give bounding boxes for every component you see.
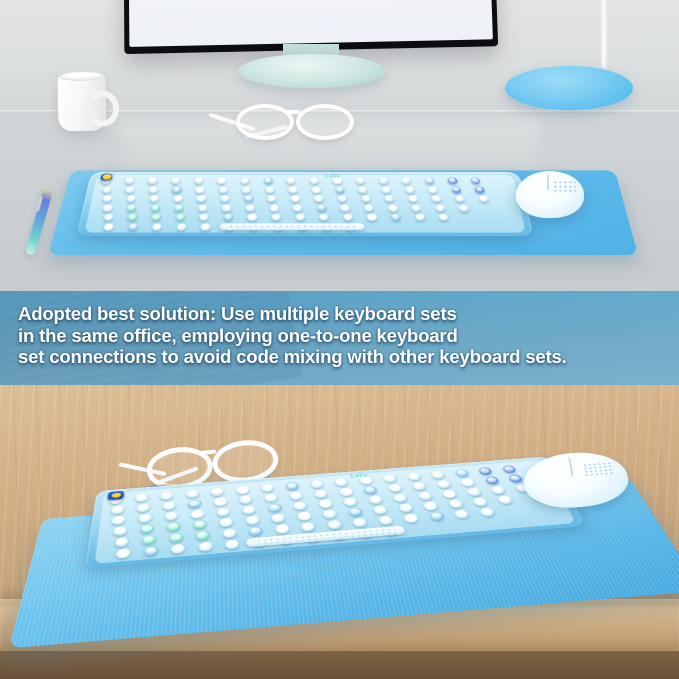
monitor-screen: 0.700 USD 0.609898 BTC Exchange ➜ [129, 0, 493, 47]
key-face [334, 178, 341, 182]
banner-headline-line-2: in the same office, employing one-to-one… [18, 325, 669, 347]
key-face [370, 497, 380, 503]
key-face [365, 205, 372, 209]
keyboard-key[interactable] [335, 186, 344, 193]
key-face [127, 187, 134, 191]
key-face [140, 515, 150, 521]
scene-top-grey-desk: 0.700 USD 0.609898 BTC Exchange ➜ [0, 0, 679, 292]
key-face [202, 224, 209, 229]
key-face [263, 485, 272, 490]
key-face [173, 545, 183, 551]
key-face [409, 196, 416, 200]
key-face [389, 205, 396, 209]
keyboard-key[interactable] [405, 186, 415, 193]
key-face [499, 497, 510, 503]
key-face [247, 517, 257, 523]
key-face [270, 505, 280, 511]
key-face [295, 503, 305, 509]
key-face [249, 215, 256, 220]
keyboard-key[interactable] [474, 186, 484, 193]
key-face [221, 519, 231, 525]
key-face [363, 196, 370, 200]
key-face [151, 196, 158, 200]
key-face [178, 224, 185, 229]
key-face [221, 196, 228, 200]
key-face [409, 474, 419, 479]
key-face [420, 493, 431, 499]
key-face [321, 215, 328, 220]
key-face [406, 515, 417, 521]
key-face [329, 521, 339, 527]
key-face [149, 178, 156, 182]
key-face [269, 196, 276, 200]
banner-headline-line-1: Adopted best solution: Use multiple keyb… [18, 303, 669, 325]
key-face [129, 224, 137, 229]
key-face [480, 468, 490, 473]
key-face [241, 497, 251, 503]
key-face [198, 532, 208, 538]
key-face [251, 528, 261, 534]
key-face [112, 507, 122, 513]
mouse-decal-top [554, 181, 576, 193]
key-face [395, 495, 405, 501]
key-face [200, 543, 210, 549]
key-face [383, 187, 390, 191]
key-face [342, 205, 349, 209]
key-face [169, 523, 179, 529]
key-face [469, 489, 480, 495]
key-face [429, 187, 436, 191]
keyboard-key[interactable] [314, 195, 323, 202]
key-face [345, 215, 352, 220]
keyboard-key[interactable] [269, 204, 278, 211]
mug-rim [59, 72, 103, 82]
key-face [139, 505, 149, 511]
key-face [225, 215, 232, 220]
key-face [414, 483, 424, 488]
key-face [197, 187, 204, 191]
key-face [316, 196, 323, 200]
key-face [313, 187, 320, 191]
key-face [242, 178, 249, 182]
product-image: 0.700 USD 0.609898 BTC Exchange ➜ [0, 0, 679, 679]
lamp-pole [601, 0, 608, 68]
key-face [195, 521, 205, 527]
eyeglasses-top [236, 100, 356, 134]
key-face [220, 187, 227, 191]
key-face [510, 475, 521, 480]
keyboard-key[interactable] [367, 214, 377, 222]
mouse-decal-bottom [583, 462, 615, 477]
key-face [176, 205, 183, 209]
key-face [105, 224, 113, 229]
key-face [336, 479, 346, 484]
key-face [380, 178, 387, 182]
floor-background [0, 651, 679, 679]
key-face [172, 178, 179, 182]
key-face [453, 187, 460, 191]
key-face [481, 509, 492, 515]
key-face [115, 528, 125, 534]
keyboard-key[interactable] [222, 204, 232, 211]
key-face [162, 493, 171, 499]
key-face [431, 513, 442, 519]
key-face [472, 178, 479, 182]
keyboard-key[interactable] [459, 204, 469, 211]
key-face [224, 530, 234, 536]
key-face [433, 196, 440, 200]
key-face [216, 499, 225, 505]
key-face [436, 205, 443, 209]
key-face [299, 513, 309, 519]
key-face [360, 187, 367, 191]
keyboard-key[interactable] [289, 186, 298, 193]
key-face [292, 196, 299, 200]
key-face [118, 550, 129, 557]
key-face [303, 523, 313, 529]
key-face [177, 215, 184, 220]
key-face [114, 517, 124, 523]
key-face [219, 509, 229, 515]
key-face [336, 187, 343, 191]
keyboard-key[interactable] [451, 186, 461, 193]
mouse-bottom[interactable] [521, 449, 634, 512]
key-face [291, 493, 301, 499]
key-face [245, 196, 252, 200]
key-face [126, 178, 133, 182]
keyboard-key[interactable] [388, 204, 398, 211]
key-face [201, 215, 208, 220]
keyboard-key[interactable] [364, 204, 374, 211]
key-face [390, 485, 400, 490]
key-face [357, 178, 364, 182]
key-face [386, 196, 393, 200]
key-face [238, 487, 247, 492]
key-face [444, 491, 455, 497]
key-face [380, 517, 391, 523]
key-face [103, 187, 110, 191]
keyboard-key[interactable] [431, 195, 441, 202]
keyboard-key[interactable] [265, 186, 274, 193]
key-face [129, 215, 137, 220]
key-face [392, 215, 399, 220]
key-face [312, 481, 322, 486]
key-face [104, 205, 112, 209]
lamp-base [505, 66, 633, 110]
glasses-bridge [286, 110, 300, 114]
key-face [243, 187, 250, 191]
key-face [265, 178, 272, 182]
key-face [462, 479, 473, 484]
key-face [195, 178, 202, 182]
keyboard-key[interactable] [340, 204, 350, 211]
key-face [188, 491, 197, 497]
key-face [297, 215, 304, 220]
key-face [146, 548, 156, 555]
key-face [316, 491, 326, 497]
key-face [475, 499, 486, 505]
keyboard-key[interactable] [295, 214, 304, 222]
key-face [413, 205, 420, 209]
key-face [294, 205, 301, 209]
mouse-seam-bottom [568, 457, 573, 476]
keyboard-key[interactable] [317, 204, 326, 211]
coffee-mug [58, 75, 107, 132]
key-face [325, 511, 335, 517]
key-face [104, 196, 112, 200]
mouse-top[interactable] [515, 171, 585, 218]
key-face [277, 526, 287, 532]
key-face [287, 483, 297, 488]
key-face [213, 489, 222, 495]
key-face [223, 205, 230, 209]
key-face [486, 477, 497, 482]
key-face [144, 536, 154, 542]
key-face [173, 187, 180, 191]
key-face [193, 511, 202, 517]
key-face [137, 495, 147, 501]
key-face [456, 196, 463, 200]
key-face [174, 196, 181, 200]
key-face [288, 178, 295, 182]
duck-body [102, 175, 112, 180]
key-face [198, 196, 205, 200]
key-face [456, 470, 466, 475]
key-face [154, 224, 162, 229]
mouse-seam-top [547, 174, 549, 190]
key-face [311, 178, 318, 182]
key-face [152, 205, 159, 209]
keyboard-key[interactable] [219, 186, 229, 193]
keyboard-key[interactable] [435, 204, 445, 211]
key-face [355, 519, 366, 525]
banner-headline-line-3: set connections to avoid code mixing wit… [18, 346, 669, 368]
key-face [273, 215, 280, 220]
key-face [153, 215, 160, 220]
key-face [440, 215, 447, 220]
key-face [438, 481, 448, 486]
key-face [375, 507, 385, 513]
key-face [117, 539, 127, 545]
key-face [416, 215, 423, 220]
key-face [350, 509, 360, 515]
key-face [425, 503, 436, 509]
key-face [190, 501, 199, 507]
glasses-lens-right [296, 104, 354, 140]
key-face [105, 215, 113, 220]
duck-body [111, 493, 121, 498]
banner-headline: Adopted best solution: Use multiple keyb… [18, 303, 669, 368]
key-face [290, 187, 297, 191]
key-face [460, 205, 467, 209]
key-face [504, 466, 515, 471]
key-face [345, 499, 355, 505]
key-face [456, 511, 467, 517]
key-face [199, 205, 206, 209]
keyboard-key[interactable] [247, 214, 257, 222]
key-face [476, 187, 483, 191]
key-face [385, 475, 395, 480]
headline-banner: Adopted best solution: Use multiple keyb… [0, 291, 679, 386]
key-face [368, 215, 375, 220]
key-face [406, 187, 413, 191]
key-face [341, 489, 351, 495]
glasses-lens-left [236, 104, 294, 140]
space-bar-texture [228, 224, 356, 229]
key-face [247, 205, 254, 209]
key-face [433, 472, 443, 477]
mouse-shell-top [515, 171, 585, 218]
key-face [142, 525, 152, 531]
key-face [493, 487, 504, 492]
key-face [273, 515, 283, 521]
key-face [318, 205, 325, 209]
key-face [167, 513, 177, 519]
monitor-stand-base [238, 54, 386, 88]
key-face [164, 503, 174, 509]
keyboard-top[interactable]: Lafiz [76, 172, 533, 236]
key-face [127, 196, 134, 200]
key-face [426, 178, 433, 182]
key-face [227, 541, 237, 547]
key-face [339, 196, 346, 200]
key-face [480, 196, 487, 200]
key-face [320, 501, 330, 507]
key-face [271, 205, 278, 209]
key-face [450, 501, 461, 507]
space-bar[interactable] [220, 223, 365, 230]
keyboard-brand: Lafiz [325, 174, 340, 179]
keyboard-key[interactable] [447, 177, 457, 184]
key-face [218, 178, 225, 182]
key-face [266, 495, 276, 501]
key-face [449, 178, 456, 182]
key-face [365, 487, 375, 492]
keyboard-key[interactable] [382, 186, 392, 193]
key-face [128, 205, 135, 209]
key-face [403, 178, 410, 182]
key-face [400, 505, 411, 511]
key-face [244, 507, 254, 513]
keyboard-key[interactable] [201, 223, 211, 231]
key-face [267, 187, 274, 191]
key-face [171, 534, 181, 540]
key-face [150, 187, 157, 191]
